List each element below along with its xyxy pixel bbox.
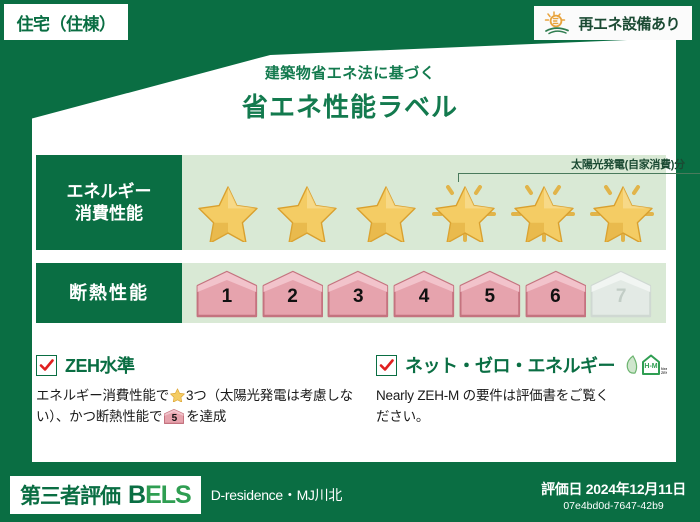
renewable-badge-label: 再エネ設備あり: [578, 13, 680, 34]
inline-house-icon: 5: [164, 409, 184, 424]
insulation-level-1: 1: [196, 270, 258, 318]
energy-consumption-value-panel: 太陽光発電(自家消費)分: [182, 155, 666, 250]
insulation-level-7: 7: [590, 270, 652, 318]
svg-text:ZEH-M: ZEH-M: [661, 371, 667, 375]
insulation-level-3-number: 3: [327, 286, 389, 308]
star-3: [349, 178, 423, 246]
energy-consumption-key: エネルギー 消費性能: [36, 155, 182, 250]
insulation-level-7-number: 7: [590, 286, 652, 308]
insulation-level-4-number: 4: [393, 286, 455, 308]
bels-wordmark: BELS: [128, 481, 191, 510]
insulation-level-3: 3: [327, 270, 389, 318]
insulation-level-2-number: 2: [262, 286, 324, 308]
claim-zeh-header: ZEH水準: [36, 352, 356, 378]
check-icon: [379, 358, 394, 373]
check-icon: [39, 358, 54, 373]
insulation-value-panel: 1 2 3: [182, 263, 666, 323]
bels-letters-els: ELS: [145, 481, 191, 509]
label-title-block: 建築物省エネ法に基づく 省エネ性能ラベル: [0, 62, 700, 124]
renewable-energy-badge: 再エネ設備あり: [534, 6, 692, 40]
claim-zeh-body-part3: を達成: [186, 409, 226, 424]
bottom-bar: 第三者評価 BELS D-residence・MJ川北 評価日 2024年12月…: [0, 468, 700, 522]
star-5: [507, 178, 581, 246]
insulation-level-4: 4: [393, 270, 455, 318]
energy-key-line1: エネルギー: [67, 181, 152, 202]
inline-house-number: 5: [164, 411, 184, 427]
claim-zeh-standard: ZEH水準 エネルギー消費性能で3つ（太陽光発電は考慮しない）、かつ断熱性能で5…: [36, 352, 356, 452]
claim-zeh-body-star-text: 3つ（太陽光発電: [186, 388, 286, 403]
evaluation-info: 評価日 2024年12月11日 07e4bd0d-7647-42b9: [541, 479, 686, 512]
claim-zeh-title: ZEH水準: [65, 352, 135, 378]
claim-nze-header: ネット・ゼロ・エネルギー H-M Nearly ZEH-M: [376, 352, 666, 378]
insulation-level-2: 2: [262, 270, 324, 318]
doc-type-tag: 住宅（住棟）: [4, 4, 128, 40]
claim-net-zero-energy: ネット・ゼロ・エネルギー H-M Nearly ZEH-M Nearly ZEH…: [376, 352, 666, 452]
nearly-zeh-m-logo-icon: H-M Nearly ZEH-M: [623, 352, 667, 378]
insulation-key: 断熱性能: [36, 263, 182, 323]
star-6: [586, 178, 660, 246]
svg-text:H-M: H-M: [644, 363, 657, 370]
insulation-level-6-number: 6: [525, 286, 587, 308]
solar-annotation-label: 太陽光発電(自家消費)分: [458, 156, 700, 172]
bels-letter-b: B: [128, 481, 145, 509]
energy-performance-label: 住宅（住棟） 再エネ設備あり 建築物省エネ法に基づく 省エネ性能ラベル: [0, 0, 700, 522]
label-main-title: 省エネ性能ラベル: [0, 87, 700, 124]
insulation-performance-row: 断熱性能 1 2: [36, 263, 666, 323]
insulation-level-5: 5: [459, 270, 521, 318]
insulation-level-1-number: 1: [196, 286, 258, 308]
insulation-level-6: 6: [525, 270, 587, 318]
star-1: [191, 178, 265, 246]
nze-checkbox: [376, 355, 397, 376]
insulation-level-scale: 1 2 3: [196, 269, 652, 319]
star-rating: [188, 177, 662, 246]
insulation-level-5-number: 5: [459, 286, 521, 308]
claim-zeh-body: エネルギー消費性能で3つ（太陽光発電は考慮しない）、かつ断熱性能で5を達成: [36, 386, 356, 428]
building-name: D-residence・MJ川北: [211, 485, 342, 505]
claim-nze-body: Nearly ZEH-M の要件は評価書をご覧く ださい。: [376, 386, 666, 428]
solar-sun-icon: [543, 10, 571, 36]
bels-logo-box: 第三者評価 BELS: [10, 476, 201, 514]
solar-annotation-bracket: [458, 173, 700, 182]
bels-third-party-label: 第三者評価: [20, 480, 120, 510]
inline-star-icon: [170, 388, 185, 402]
evaluation-id: 07e4bd0d-7647-42b9: [541, 500, 686, 512]
star-4: [428, 178, 502, 246]
claim-nze-title: ネット・ゼロ・エネルギー: [405, 352, 615, 378]
energy-key-line2: 消費性能: [75, 203, 143, 224]
label-subtitle: 建築物省エネ法に基づく: [0, 62, 700, 83]
solar-annotation: 太陽光発電(自家消費)分: [458, 156, 700, 182]
star-2: [270, 178, 344, 246]
zeh-checkbox: [36, 355, 57, 376]
claim-zeh-body-part1: エネルギー消費性能で: [36, 388, 169, 403]
energy-consumption-row: エネルギー 消費性能 太陽光発電(自家消費)分: [36, 155, 666, 250]
claims-section: ZEH水準 エネルギー消費性能で3つ（太陽光発電は考慮しない）、かつ断熱性能で5…: [36, 352, 666, 452]
evaluation-date: 評価日 2024年12月11日: [541, 479, 686, 499]
